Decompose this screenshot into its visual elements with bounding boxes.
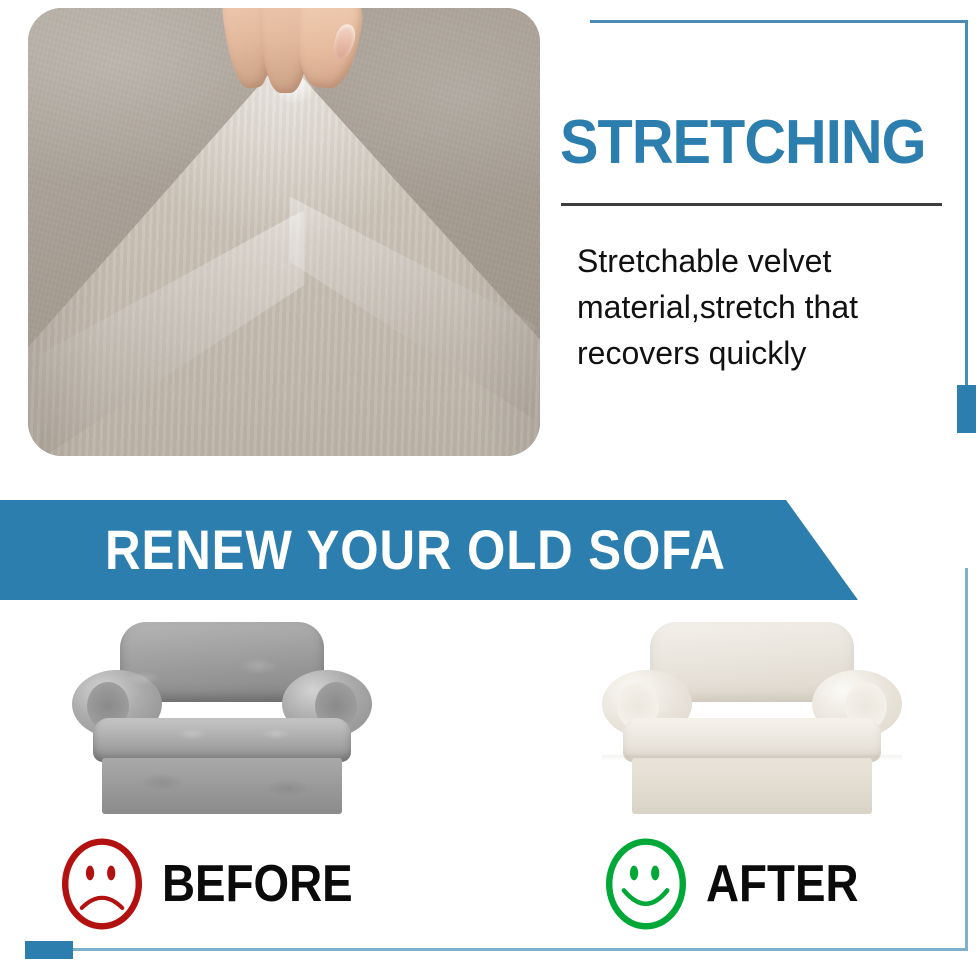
sofa-fabric-texture (72, 618, 372, 818)
verdict-after: AFTER (600, 838, 879, 930)
sofa-fabric-texture (602, 618, 902, 818)
verdict-before: BEFORE (56, 838, 379, 930)
thumbnail (330, 22, 358, 62)
decorative-accent-block-right (957, 385, 976, 433)
decorative-line-right-lower (965, 568, 968, 951)
fabric-stretch-photo (28, 8, 540, 456)
feature-description: Stretchable velvet material,stretch that… (577, 238, 937, 376)
thumb (291, 8, 366, 92)
decorative-accent-block-bottom-left (25, 941, 73, 959)
decorative-line-top (590, 20, 968, 23)
hand-icon (223, 8, 366, 98)
renew-banner-title: RENEW YOUR OLD SOFA (105, 515, 726, 585)
product-feature-infographic: STRETCHING Stretchable velvet material,s… (0, 0, 980, 964)
feature-divider (561, 203, 942, 206)
feature-title: STRETCHING (560, 112, 932, 174)
happy-face-icon (600, 838, 692, 930)
verdict-after-label: AFTER (706, 858, 859, 910)
verdict-before-label: BEFORE (162, 858, 353, 910)
decorative-line-bottom (70, 948, 968, 951)
sad-face-icon (56, 838, 148, 930)
sofa-after-image (602, 618, 902, 818)
decorative-line-right-upper (965, 20, 968, 390)
sofa-before-image (72, 618, 372, 818)
